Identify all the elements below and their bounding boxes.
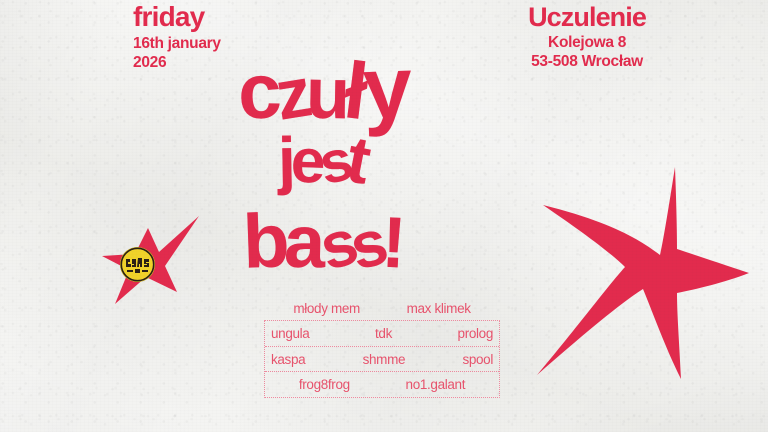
venue-block: Uczulenie Kolejowa 8 53-508 Wrocław (528, 4, 646, 72)
title-letter: u (306, 58, 346, 131)
artist-name[interactable]: frog8frog (299, 377, 350, 392)
title-letter: s (344, 210, 389, 280)
lineup-row: kaspa shmme spool (265, 346, 499, 371)
venue-city: 53-508 Wrocław (528, 53, 646, 72)
lineup-list: młody mem max klimek ungula tdk prolog k… (264, 296, 500, 398)
title-letter: t (341, 125, 370, 193)
title-letter: s (313, 210, 359, 280)
lineup-row: młody mem max klimek (264, 296, 500, 320)
artist-name[interactable]: no1.galant (406, 377, 466, 392)
venue-street: Kolejowa 8 (528, 34, 646, 53)
artist-name[interactable]: tdk (375, 326, 392, 341)
event-date: 16th january (133, 35, 221, 54)
circular-sticker-badge (120, 247, 155, 282)
lineup-row: ungula tdk prolog (265, 321, 499, 346)
lineup-row: frog8frog no1.galant (265, 371, 499, 397)
artist-name[interactable]: max klimek (407, 301, 471, 316)
event-date-block: friday 16th january 2026 (133, 4, 221, 72)
title-letter: a (284, 205, 321, 280)
title-letter: ł (341, 50, 368, 132)
title-line-1: czuły (238, 44, 407, 132)
poster-canvas: friday 16th january 2026 Uczulenie Kolej… (0, 0, 768, 432)
title-letter: y (361, 43, 408, 132)
artist-name[interactable]: młody mem (293, 301, 360, 316)
title-letter: s (314, 132, 354, 195)
star-icon (519, 163, 751, 381)
event-year: 2026 (133, 54, 221, 73)
title-letter: ! (380, 207, 403, 280)
artist-name[interactable]: ungula (271, 326, 309, 341)
title-line-2: jest (278, 126, 365, 193)
lineup-box: ungula tdk prolog kaspa shmme spool frog… (264, 320, 500, 398)
artist-name[interactable]: prolog (458, 326, 493, 341)
artist-name[interactable]: shmme (363, 352, 406, 367)
venue-name: Uczulenie (528, 4, 646, 30)
title-letter: z (271, 57, 312, 131)
artist-name[interactable]: kaspa (271, 352, 305, 367)
title-line-3: bass! (243, 204, 401, 280)
event-day: friday (133, 4, 221, 31)
title-letter: j (277, 128, 291, 192)
title-letter: e (290, 131, 322, 194)
title-letter: b (242, 203, 286, 280)
artist-name[interactable]: spool (462, 352, 493, 367)
title-letter: c (237, 51, 278, 130)
